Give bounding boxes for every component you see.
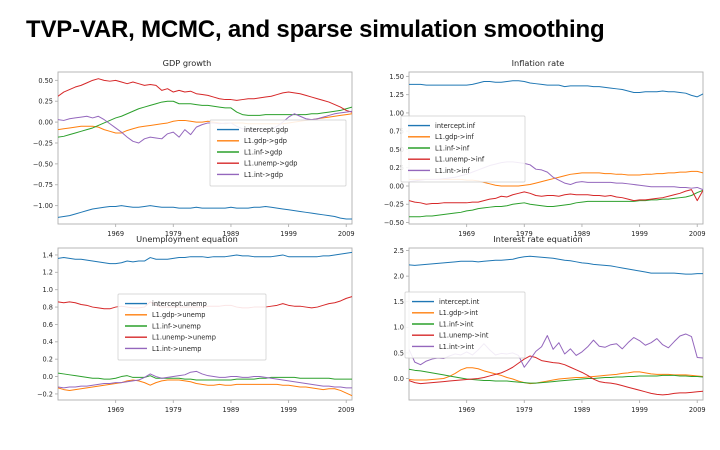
- y-tick-label: 1.2: [43, 269, 54, 277]
- y-tick-label: −1.00: [33, 202, 53, 210]
- legend-label: intercept.gdp: [244, 126, 288, 134]
- x-tick-label: 1999: [631, 406, 648, 414]
- y-tick-label: 0.5: [394, 349, 405, 357]
- legend-label: L1.inf->int: [439, 320, 474, 328]
- legend-label: L1.int->unemp: [152, 345, 202, 353]
- y-tick-label: 2.0: [394, 273, 405, 281]
- chart-unemployment-equation[interactable]: 1.41.21.00.80.60.40.20.0−0.2196919791989…: [14, 234, 360, 426]
- panel-title-unemployment-equation: Unemployment equation: [14, 234, 360, 244]
- legend-label: intercept.unemp: [152, 300, 207, 308]
- y-tick-label: −0.75: [33, 181, 53, 189]
- y-tick-label: 0.25: [38, 98, 53, 106]
- legend-label: L1.inf->unemp: [152, 322, 201, 330]
- y-tick-label: 1.5: [394, 298, 405, 306]
- panel-title-inflation-rate: Inflation rate: [365, 58, 711, 68]
- x-tick-label: 1999: [280, 406, 297, 414]
- chart-legend: intercept.gdpL1.gdp->gdpL1.inf->gdpL1.un…: [210, 120, 346, 186]
- x-tick-label: 1989: [223, 406, 240, 414]
- legend-label: L1.inf->inf: [435, 144, 470, 152]
- y-tick-label: 0.0: [394, 375, 405, 383]
- y-tick-label: 1.25: [389, 91, 404, 99]
- legend-label: L1.int->gdp: [244, 171, 283, 179]
- legend-label: L1.gdp->unemp: [152, 311, 205, 319]
- y-tick-label: 0.6: [43, 321, 54, 329]
- x-tick-label: 2009: [689, 406, 706, 414]
- page-title: TVP-VAR, MCMC, and sparse simulation smo…: [26, 16, 696, 44]
- y-tick-label: 1.0: [394, 324, 405, 332]
- y-tick-label: 1.4: [43, 251, 54, 259]
- y-tick-label: −0.50: [33, 160, 53, 168]
- y-tick-label: 0.0: [43, 373, 54, 381]
- chart-interest-rate-equation[interactable]: 2.52.01.51.00.50.019691979198919992009in…: [365, 234, 711, 426]
- y-tick-label: 0.8: [43, 303, 54, 311]
- legend-label: L1.gdp->gdp: [244, 137, 287, 145]
- y-tick-label: −0.50: [384, 219, 404, 227]
- panel-interest-rate-equation: Interest rate equation 2.52.01.51.00.50.…: [365, 234, 711, 426]
- panel-title-interest-rate-equation: Interest rate equation: [365, 234, 711, 244]
- legend-label: L1.gdp->inf: [435, 133, 474, 141]
- legend-label: L1.inf->gdp: [244, 148, 282, 156]
- x-tick-label: 2009: [338, 406, 355, 414]
- x-tick-label: 1979: [516, 406, 533, 414]
- figure-grid: GDP growth 0.500.250.00−0.25−0.50−0.75−1…: [0, 58, 720, 450]
- x-tick-label: 1969: [458, 406, 475, 414]
- legend-label: L1.int->int: [439, 343, 474, 351]
- legend-label: L1.gdp->int: [439, 309, 478, 317]
- panel-gdp-growth: GDP growth 0.500.250.00−0.25−0.50−0.75−1…: [14, 58, 360, 250]
- chart-inflation-rate[interactable]: 1.501.251.000.750.500.250.00−0.25−0.5019…: [365, 58, 711, 250]
- chart-gdp-growth[interactable]: 0.500.250.00−0.25−0.50−0.75−1.0019691979…: [14, 58, 360, 250]
- panel-unemployment-equation: Unemployment equation 1.41.21.00.80.60.4…: [14, 234, 360, 426]
- x-tick-label: 1989: [574, 406, 591, 414]
- y-tick-label: 0.50: [38, 77, 53, 85]
- legend-label: L1.unemp->inf: [435, 156, 485, 164]
- legend-label: L1.unemp->unemp: [152, 334, 216, 342]
- y-tick-label: 1.50: [389, 73, 404, 81]
- y-tick-label: −0.25: [33, 139, 53, 147]
- x-tick-label: 1969: [107, 406, 124, 414]
- legend-label: L1.unemp->gdp: [244, 160, 297, 168]
- y-tick-label: 0.00: [389, 182, 404, 190]
- chart-legend: intercept.infL1.gdp->infL1.inf->infL1.un…: [401, 116, 525, 182]
- legend-label: intercept.inf: [435, 122, 476, 130]
- y-tick-label: 1.0: [43, 286, 54, 294]
- chart-legend: intercept.intL1.gdp->intL1.inf->intL1.un…: [405, 292, 525, 358]
- panel-inflation-rate: Inflation rate 1.501.251.000.750.500.250…: [365, 58, 711, 250]
- x-tick-label: 1979: [165, 406, 182, 414]
- y-tick-label: 0.00: [38, 119, 53, 127]
- slide-canvas: TVP-VAR, MCMC, and sparse simulation smo…: [0, 0, 720, 450]
- y-tick-label: 0.4: [43, 338, 54, 346]
- chart-legend: intercept.unempL1.gdp->unempL1.inf->unem…: [118, 294, 266, 360]
- legend-label: intercept.int: [439, 298, 480, 306]
- y-tick-label: 0.2: [43, 356, 54, 364]
- legend-label: L1.int->inf: [435, 167, 470, 175]
- panel-title-gdp-growth: GDP growth: [14, 58, 360, 68]
- y-tick-label: −0.2: [37, 390, 53, 398]
- y-tick-label: 2.5: [394, 247, 405, 255]
- legend-label: L1.unemp->int: [439, 332, 489, 340]
- y-tick-label: −0.25: [384, 201, 404, 209]
